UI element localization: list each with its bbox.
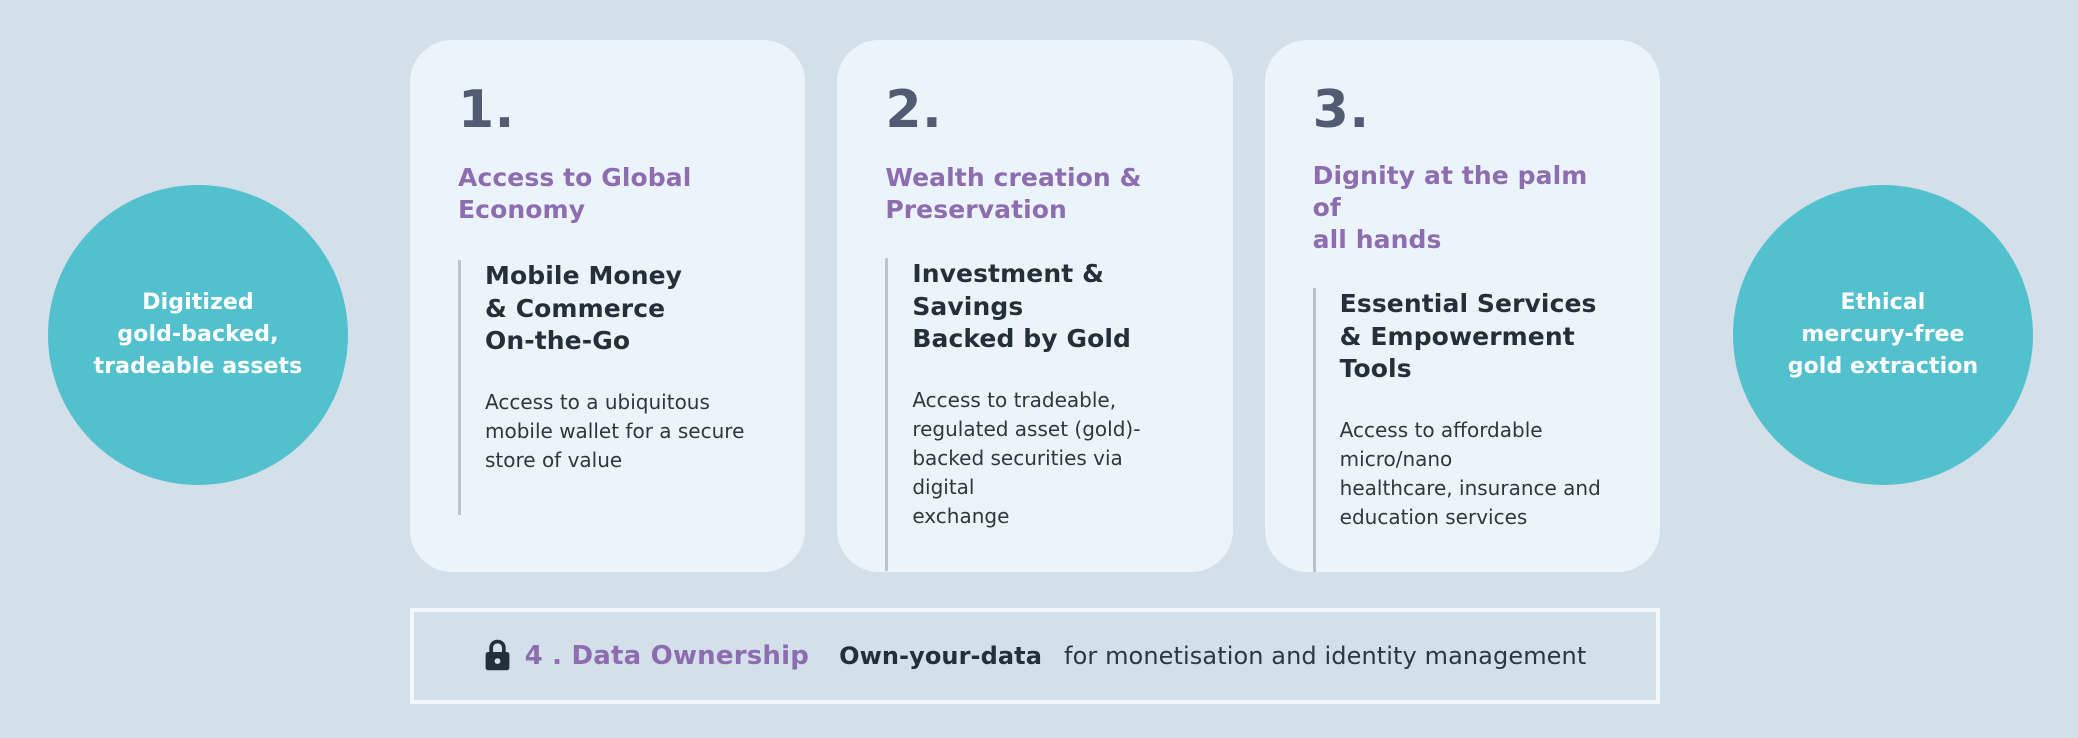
pillar-number-2: 2.	[885, 84, 1184, 136]
pillar-card-1[interactable]: 1. Access to Global Economy Mobile Money…	[410, 40, 805, 572]
pillar-card-3[interactable]: 3. Dignity at the palm of all hands Esse…	[1265, 40, 1660, 572]
pillar-detail-heading-3: Essential Services & Empowerment Tools	[1340, 288, 1612, 386]
pillar-detail-3: Essential Services & Empowerment Tools A…	[1313, 288, 1612, 572]
pillar-detail-1: Mobile Money & Commerce On-the-Go Access…	[458, 260, 757, 515]
infographic-canvas: Digitized gold-backed, tradeable assets …	[0, 0, 2078, 738]
pillar-detail-body-1: Access to a ubiquitous mobile wallet for…	[485, 388, 757, 475]
lock-icon	[484, 639, 511, 671]
pillar-number-3: 3.	[1313, 84, 1612, 136]
pillar-detail-heading-1: Mobile Money & Commerce On-the-Go	[485, 260, 757, 358]
banner-strong-text: Own-your-data	[839, 642, 1042, 670]
pillar-title-3: Dignity at the palm of all hands	[1313, 160, 1612, 256]
left-outcome-circle: Digitized gold-backed, tradeable assets	[48, 185, 348, 485]
pillar-detail-body-3: Access to affordable micro/nano healthca…	[1340, 416, 1612, 532]
right-outcome-text: Ethical mercury-free gold extraction	[1788, 287, 1979, 383]
pillar-number-1: 1.	[458, 84, 757, 136]
pillar-detail-2: Investment & Savings Backed by Gold Acce…	[885, 258, 1184, 571]
pillar-title-1: Access to Global Economy	[458, 162, 757, 226]
banner-step-label: 4 . Data Ownership	[525, 641, 809, 671]
pillar-detail-body-2: Access to tradeable, regulated asset (go…	[912, 386, 1184, 531]
banner-content: 4 . Data Ownership Own-your-data for mon…	[484, 640, 1587, 672]
banner-rest-text: for monetisation and identity management	[1064, 642, 1586, 670]
pillar-card-2[interactable]: 2. Wealth creation & Preservation Invest…	[837, 40, 1232, 572]
pillar-title-2: Wealth creation & Preservation	[885, 162, 1184, 226]
right-outcome-circle: Ethical mercury-free gold extraction	[1733, 185, 2033, 485]
pillar-detail-heading-2: Investment & Savings Backed by Gold	[912, 258, 1184, 356]
pillar-card-group: 1. Access to Global Economy Mobile Money…	[410, 40, 1660, 572]
data-ownership-banner[interactable]: 4 . Data Ownership Own-your-data for mon…	[410, 608, 1660, 704]
left-outcome-text: Digitized gold-backed, tradeable assets	[94, 287, 303, 383]
